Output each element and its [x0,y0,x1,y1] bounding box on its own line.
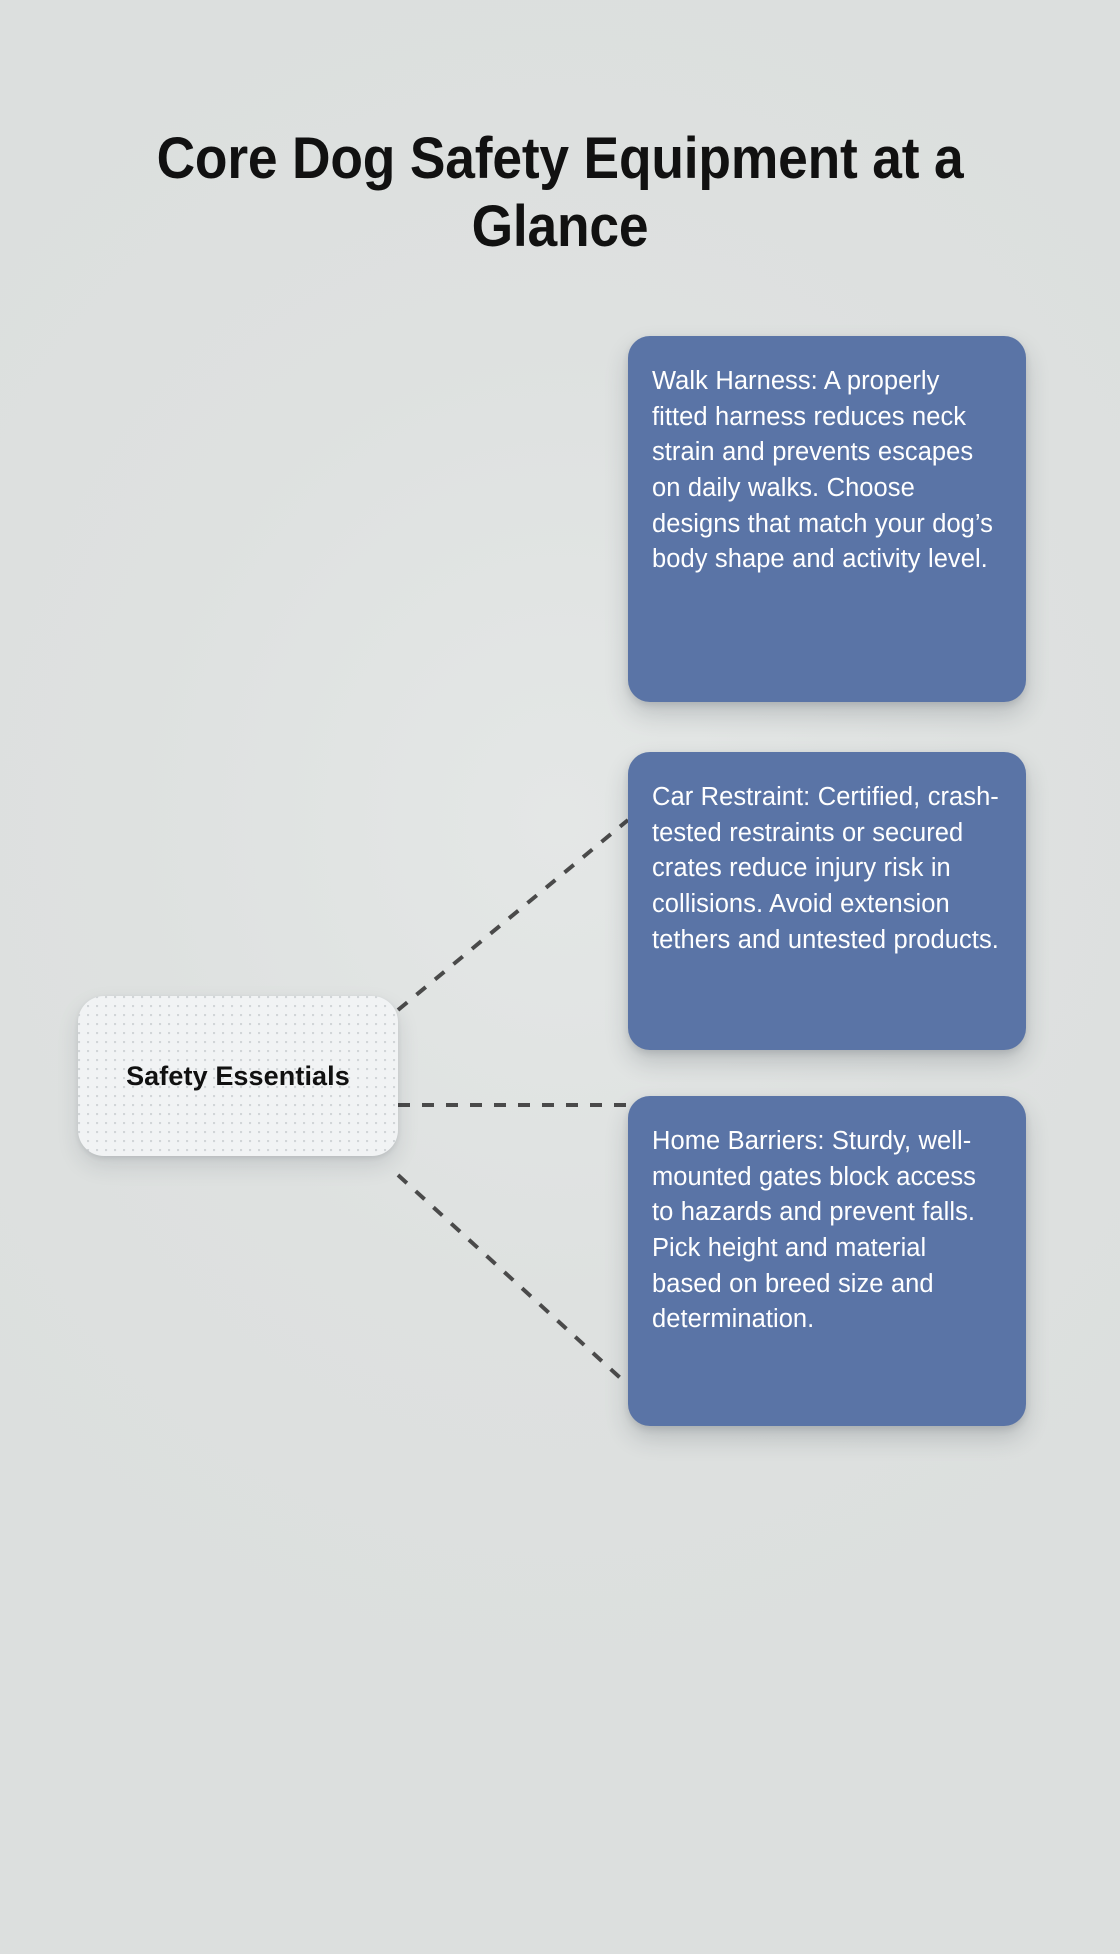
connector-line-walk-harness [398,820,628,1010]
infographic-canvas: Core Dog Safety Equipment at a Glance Sa… [0,0,1120,1954]
branch-card-home-barriers[interactable]: Home Barriers: Sturdy, well-mounted gate… [628,1096,1026,1426]
center-node[interactable]: Safety Essentials [78,996,398,1156]
branch-card-text: Car Restraint: Certified, crash-tested r… [652,780,1002,958]
branch-card-walk-harness[interactable]: Walk Harness: A properly fitted harness … [628,336,1026,702]
connector-line-home-barriers [398,1175,628,1385]
branch-card-text: Walk Harness: A properly fitted harness … [652,364,1002,578]
page-title: Core Dog Safety Equipment at a Glance [100,125,1020,262]
branch-card-car-restraint[interactable]: Car Restraint: Certified, crash-tested r… [628,752,1026,1050]
center-node-label: Safety Essentials [126,1061,350,1092]
branch-card-text: Home Barriers: Sturdy, well-mounted gate… [652,1124,1002,1338]
